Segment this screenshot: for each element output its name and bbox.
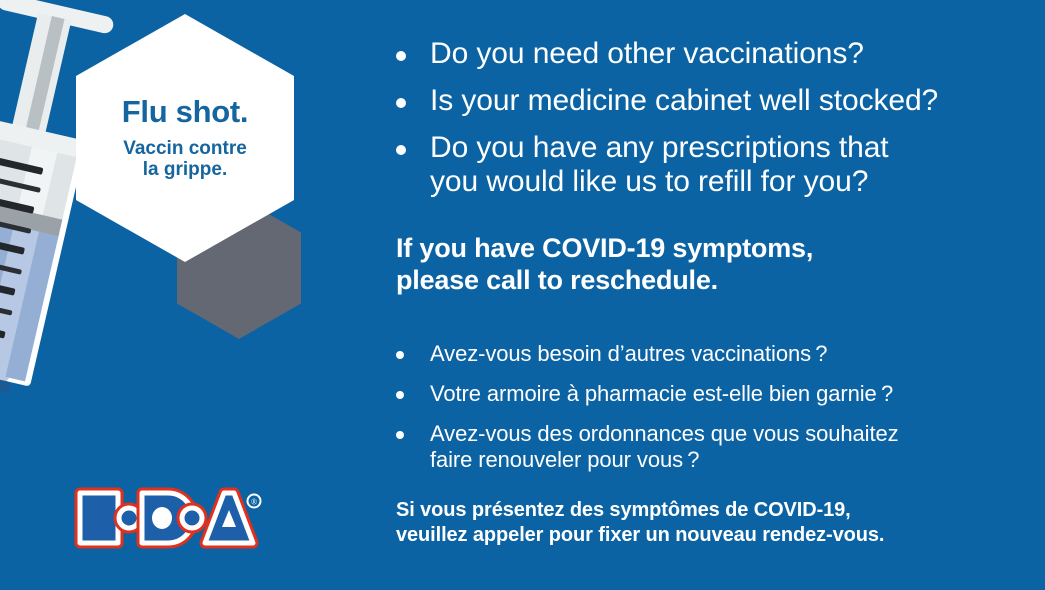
- ida-logo-trademark-icon: ®: [248, 495, 261, 508]
- message-column: Do you need other vaccinations? Is your …: [382, 0, 1037, 590]
- ida-logo-dot-2: [182, 508, 202, 528]
- french-covid-notice-line1: Si vous présentez des symptômes de COVID…: [396, 499, 851, 521]
- list-item: Avez-vous besoin d’autres vaccinations ?: [382, 341, 1032, 367]
- list-item-line2: you would like us to refill for you?: [430, 165, 868, 198]
- ida-logo-letter-i: [80, 493, 118, 543]
- illustration-area: Flu shot. Vaccin contre la grippe.: [0, 0, 360, 590]
- ida-logo-letter-a: [205, 493, 253, 543]
- list-item-line1: Avez-vous besoin d’autres vaccinations ?: [430, 341, 827, 366]
- list-item-line2: faire renouveler pour vous ?: [430, 447, 699, 472]
- list-item: Do you need other vaccinations?: [382, 37, 1032, 72]
- ida-logo-trademark-glyph: ®: [251, 498, 257, 507]
- callout-subtitle-line2: la grippe.: [143, 159, 227, 180]
- ida-logo-dot-1: [119, 508, 139, 528]
- english-covid-notice: If you have COVID-19 symptoms, please ca…: [396, 232, 1036, 297]
- callout-text-block: Flu shot. Vaccin contre la grippe.: [76, 14, 294, 262]
- bullet-icon: [396, 391, 404, 399]
- english-covid-notice-line2: please call to reschedule.: [396, 265, 718, 295]
- poster-canvas: Flu shot. Vaccin contre la grippe.: [0, 0, 1045, 590]
- french-question-list: Avez-vous besoin d’autres vaccinations ?…: [382, 341, 1032, 487]
- callout-subtitle-line1: Vaccin contre: [123, 138, 247, 159]
- callout-title: Flu shot.: [122, 96, 248, 129]
- bullet-icon: [396, 431, 404, 439]
- bullet-icon: [396, 351, 404, 359]
- ida-logo: ®: [74, 487, 264, 549]
- list-item: Votre armoire à pharmacie est-elle bien …: [382, 381, 1032, 407]
- list-item-line1: Avez-vous des ordonnances que vous souha…: [430, 421, 899, 446]
- bullet-icon: [396, 51, 406, 61]
- list-item-line1: Votre armoire à pharmacie est-elle bien …: [430, 381, 893, 406]
- list-item: Is your medicine cabinet well stocked?: [382, 84, 1032, 119]
- bullet-icon: [396, 145, 406, 155]
- list-item-line1: Is your medicine cabinet well stocked?: [430, 84, 938, 117]
- syringe-cone: [0, 363, 9, 432]
- list-item-line1: Do you need other vaccinations?: [430, 37, 864, 70]
- english-question-list: Do you need other vaccinations? Is your …: [382, 37, 1032, 212]
- english-covid-notice-line1: If you have COVID-19 symptoms,: [396, 233, 813, 263]
- french-covid-notice-line2: veuillez appeler pour fixer un nouveau r…: [396, 524, 884, 546]
- french-covid-notice: Si vous présentez des symptômes de COVID…: [396, 498, 1036, 549]
- list-item: Avez-vous des ordonnances que vous souha…: [382, 421, 1032, 473]
- ida-logo-svg: ®: [74, 487, 264, 549]
- list-item: Do you have any prescriptions that you w…: [382, 131, 1032, 201]
- bullet-icon: [396, 98, 406, 108]
- callout-subtitle: Vaccin contre la grippe.: [123, 138, 247, 181]
- list-item-line1: Do you have any prescriptions that: [430, 131, 889, 164]
